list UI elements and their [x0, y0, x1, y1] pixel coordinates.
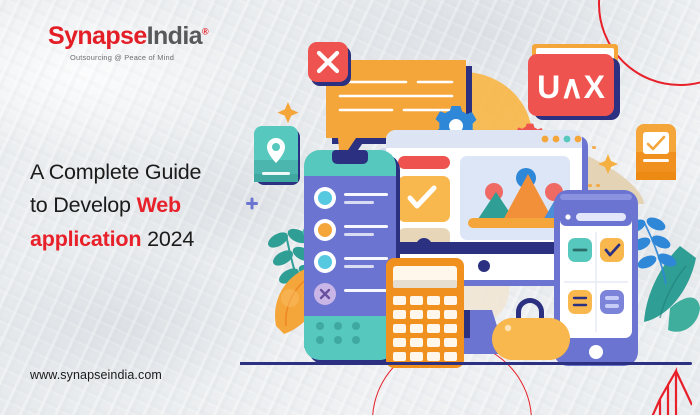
brand-logo: SynapseIndia® Outsourcing @ Peace of Min…: [48, 24, 208, 62]
logo-primary-text: Synapse: [48, 22, 147, 50]
error-badge-icon: [308, 42, 351, 86]
logo-secondary-text: India: [147, 22, 202, 50]
headline-line-2-prefix: to Develop: [30, 193, 137, 217]
mobile-phone-left: [304, 150, 400, 364]
headline-highlight-web: Web: [137, 193, 181, 217]
illustration-svg: U∧X: [240, 26, 700, 386]
location-card-icon: [254, 126, 300, 185]
hero-illustration: U∧X: [240, 26, 700, 386]
registered-trademark-icon: ®: [202, 27, 208, 37]
headline-line-3-suffix: 2024: [141, 227, 194, 251]
checklist-card-icon: [636, 124, 676, 180]
logo-wordmark: SynapseIndia®: [48, 24, 208, 49]
logo-tagline: Outsourcing @ Peace of Mind: [70, 53, 208, 62]
headline-line-1: A Complete Guide: [30, 160, 201, 184]
ux-sign-label: U∧X: [537, 69, 606, 105]
website-url: www.synapseindia.com: [30, 368, 162, 382]
headline-highlight-application: application: [30, 227, 141, 251]
banner-canvas: SynapseIndia® Outsourcing @ Peace of Min…: [0, 0, 700, 415]
ground-line: [240, 362, 692, 365]
calculator: [386, 258, 464, 368]
